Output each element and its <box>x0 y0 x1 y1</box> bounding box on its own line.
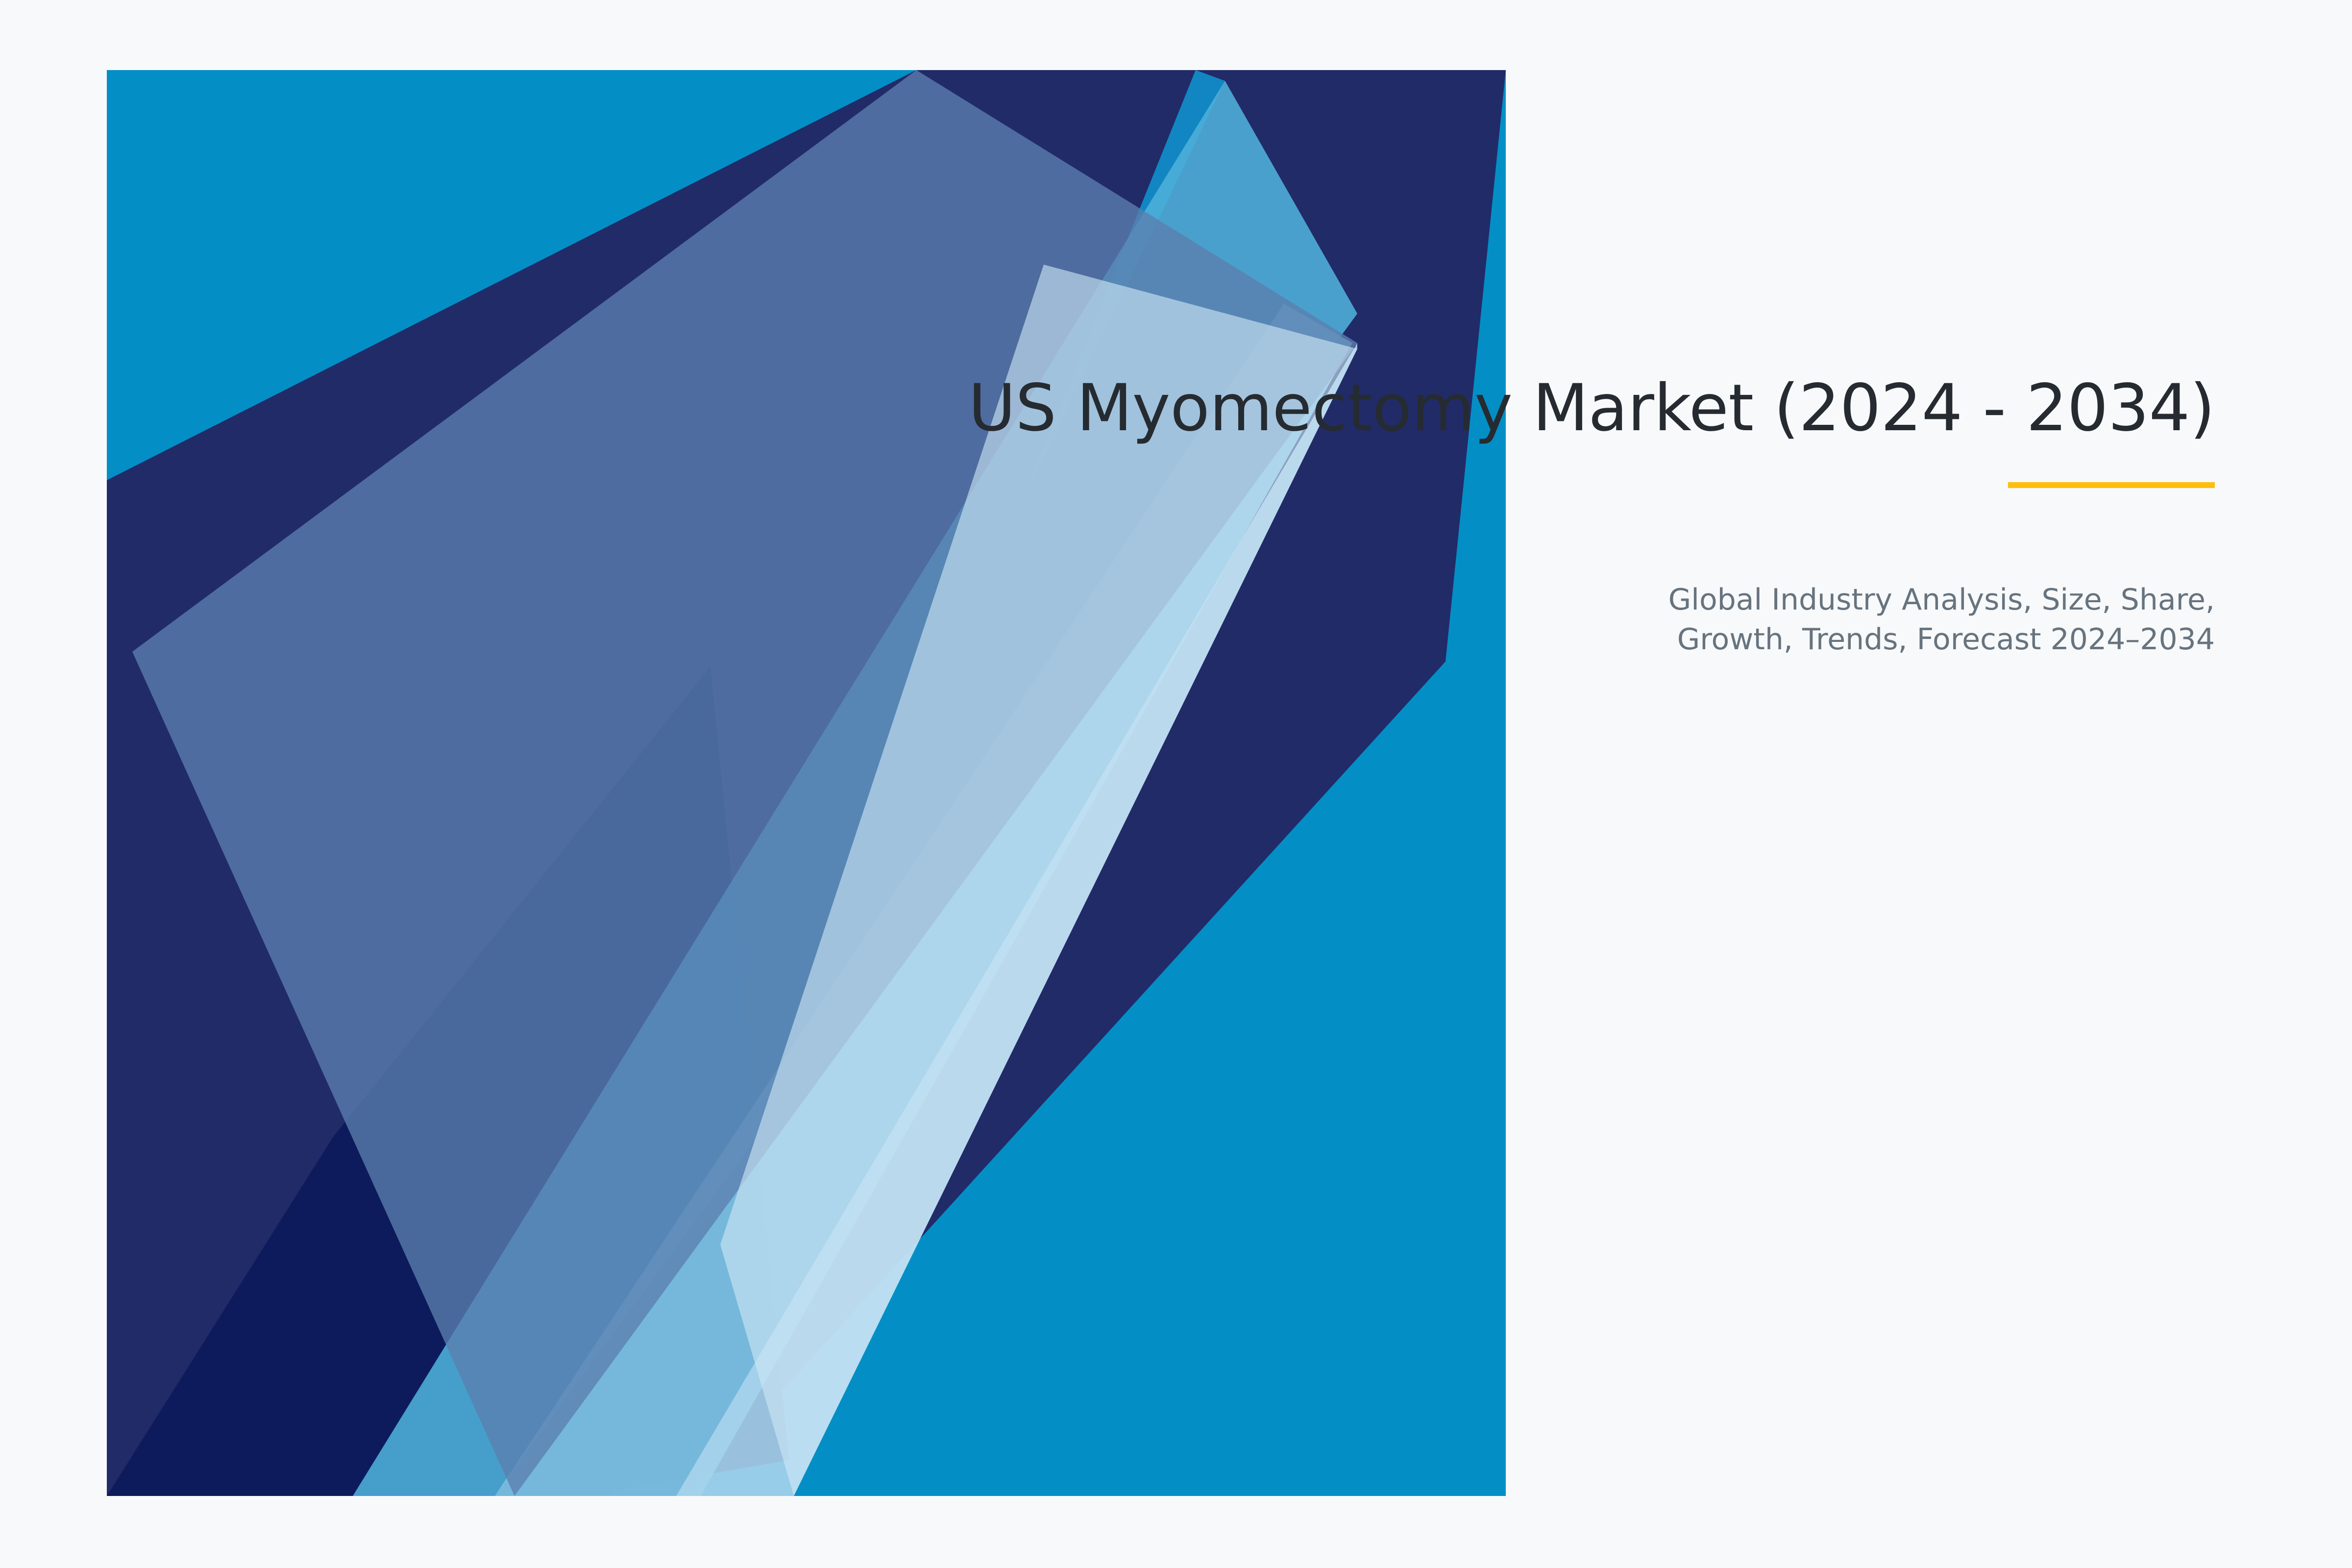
accent-rule <box>2008 482 2215 488</box>
accent-rule-container <box>804 482 2215 488</box>
page-subtitle: Global Industry Analysis, Size, Share, G… <box>1578 580 2215 660</box>
title-slide: US Myomectomy Market (2024 - 2034) Globa… <box>0 0 2352 1568</box>
page-title: US Myomectomy Market (2024 - 2034) <box>804 372 2215 445</box>
title-text-block: US Myomectomy Market (2024 - 2034) Globa… <box>804 372 2215 660</box>
abstract-geometric-artwork <box>0 0 2352 1568</box>
